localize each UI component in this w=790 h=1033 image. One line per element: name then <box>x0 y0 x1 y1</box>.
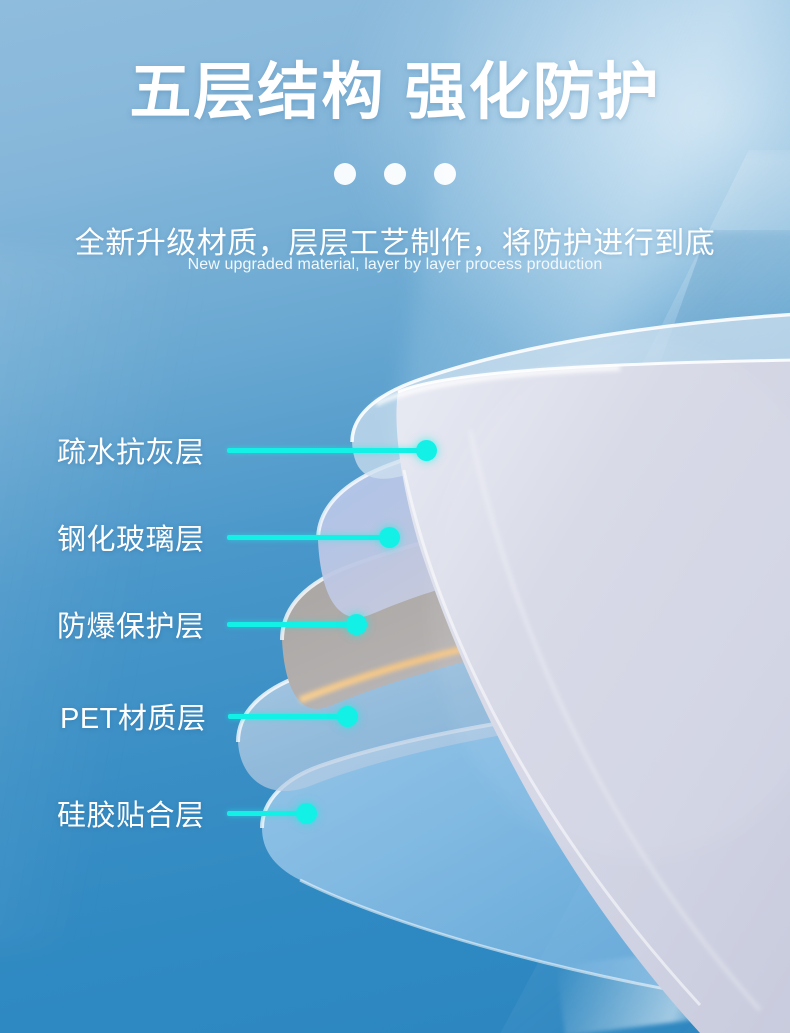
callout-label-3: 防爆保护层 <box>57 603 205 645</box>
callout-knob-4[interactable] <box>337 706 358 727</box>
callout-label-1: 疏水抗灰层 <box>57 429 205 471</box>
callout-knob-3[interactable] <box>346 614 367 635</box>
callout-leader-line-1 <box>227 448 419 453</box>
callout-label-4: PET材质层 <box>60 695 206 737</box>
callout-layer-4[interactable]: PET材质层 <box>60 696 358 736</box>
product-feature-banner: 五层结构 强化防护 全新升级材质，层层工艺制作，将防护进行到底 New upgr… <box>0 0 790 1033</box>
callout-knob-5[interactable] <box>296 803 317 824</box>
callout-leader-line-5 <box>227 811 299 816</box>
callout-label-2: 钢化玻璃层 <box>57 516 205 558</box>
callout-leader-line-4 <box>228 714 340 719</box>
callout-layer-2[interactable]: 钢化玻璃层 <box>57 517 400 557</box>
callout-knob-1[interactable] <box>416 440 437 461</box>
callout-label-5: 硅胶贴合层 <box>57 792 205 834</box>
callout-knob-2[interactable] <box>379 527 400 548</box>
callout-leader-line-2 <box>227 535 382 540</box>
callout-layer-1[interactable]: 疏水抗灰层 <box>57 430 437 470</box>
callout-layer-3[interactable]: 防爆保护层 <box>57 604 367 644</box>
callout-layer-5[interactable]: 硅胶贴合层 <box>57 793 317 833</box>
callout-leader-line-3 <box>227 622 349 627</box>
